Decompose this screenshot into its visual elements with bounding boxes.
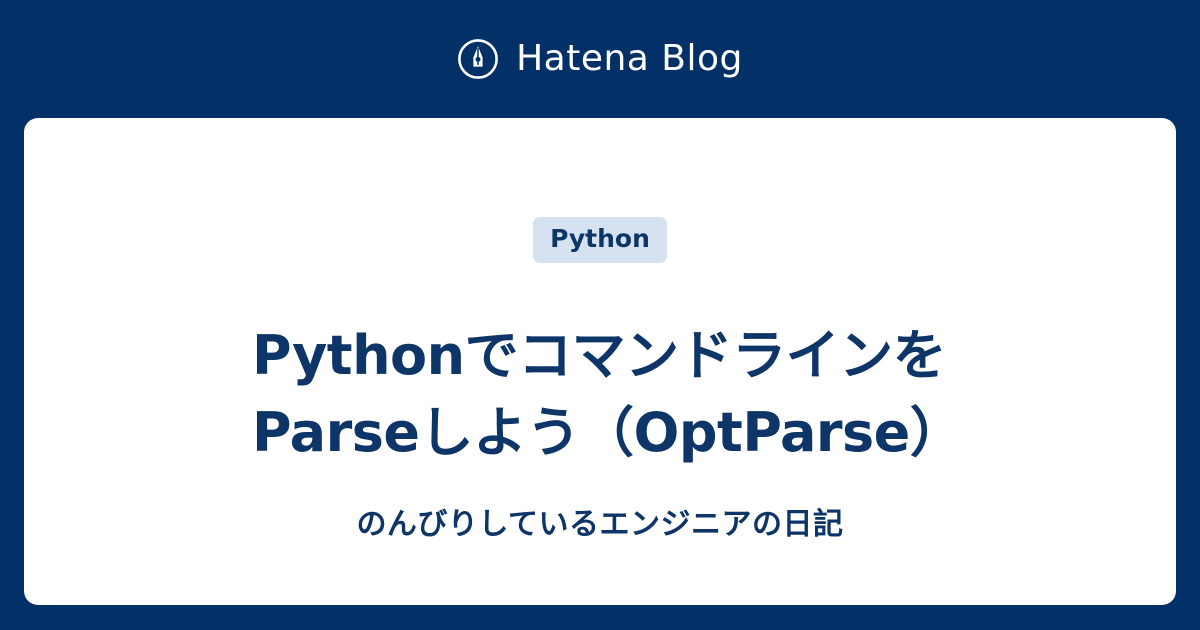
entry-title: Pythonでコマンドラインを Parseしよう（OptParse） [252, 317, 992, 471]
entry-content-panel: Python Pythonでコマンドラインを Parseしよう（OptParse… [24, 118, 1176, 605]
category-row: Python [24, 217, 1176, 263]
entry-title-line-1: Pythonでコマンドラインを [252, 317, 992, 394]
og-image-card: Hatena Blog Python Pythonでコマンドラインを Parse… [0, 0, 1200, 630]
blog-name: のんびりしているエンジニアの日記 [24, 507, 1176, 543]
brand-name: Hatena Blog [516, 41, 743, 77]
brand-header: Hatena Blog [0, 0, 1200, 118]
hatena-pen-nib-circle-icon [457, 38, 499, 80]
category-badge[interactable]: Python [533, 217, 667, 263]
entry-title-line-2: Parseしよう（OptParse） [252, 394, 992, 471]
